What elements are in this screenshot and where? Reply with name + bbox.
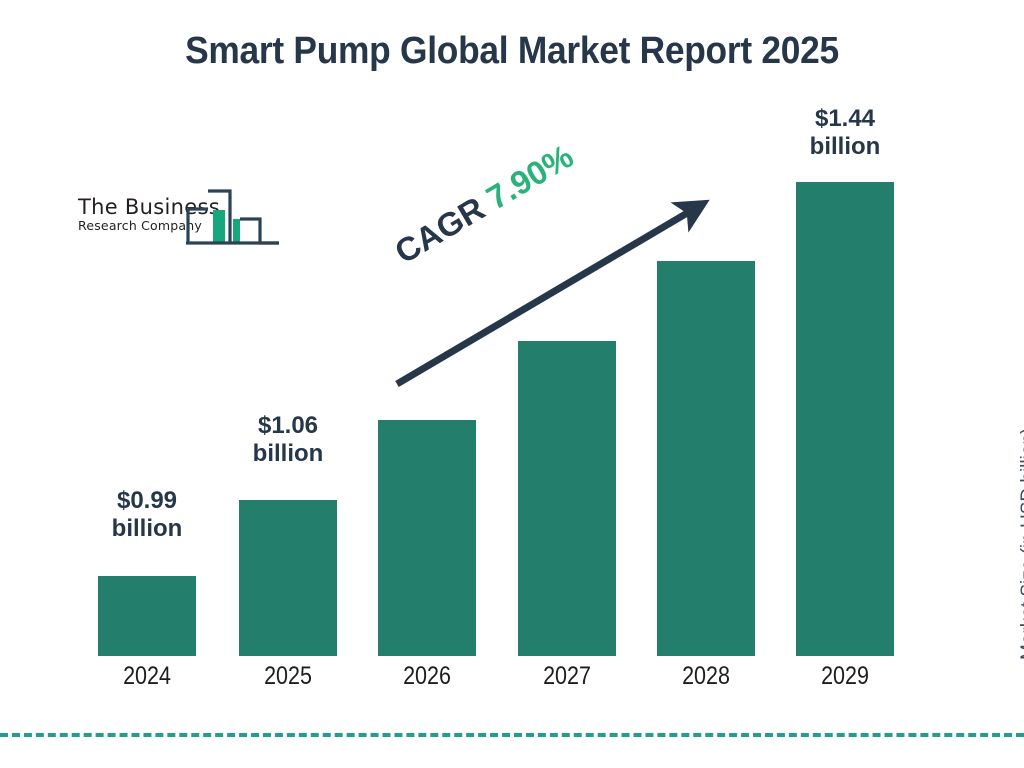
bar-value-2024-amount: $0.99 [79, 487, 215, 515]
cagr-value: 7.90% [480, 137, 579, 216]
x-tick-2026: 2026 [384, 662, 470, 691]
page-title: Smart Pump Global Market Report 2025 [36, 30, 988, 73]
bar-value-2025: $1.06 billion [220, 412, 356, 468]
bar-2027[interactable] [518, 341, 616, 656]
bar-2028[interactable] [657, 261, 755, 656]
x-tick-2025: 2025 [245, 662, 331, 691]
bar-2025[interactable] [239, 500, 337, 656]
cagr-annotation: CAGR 7.90% [388, 137, 580, 271]
logo-line-1: The Business [78, 196, 203, 218]
x-tick-2027: 2027 [524, 662, 610, 691]
bar-value-2029: $1.44 billion [777, 105, 913, 161]
x-tick-2028: 2028 [663, 662, 749, 691]
bar-value-2024-unit: billion [79, 515, 215, 543]
bar-2024[interactable] [98, 576, 196, 656]
bar-value-2029-unit: billion [777, 133, 913, 161]
logo-line-2: Research Company [78, 219, 203, 233]
bar-2026[interactable] [378, 420, 476, 656]
chart-canvas: Smart Pump Global Market Report 2025 The… [0, 0, 1024, 768]
x-tick-2024: 2024 [104, 662, 190, 691]
x-tick-2029: 2029 [802, 662, 888, 691]
company-logo: The Business Research Company [78, 186, 283, 256]
logo-text: The Business Research Company [78, 196, 203, 233]
logo-bar-chart-icon [186, 186, 281, 248]
bar-value-2024: $0.99 billion [79, 487, 215, 543]
bar-value-2025-unit: billion [220, 440, 356, 468]
bar-2029[interactable] [796, 182, 894, 656]
bar-value-2029-amount: $1.44 [777, 105, 913, 133]
cagr-label: CAGR [388, 189, 491, 270]
y-axis-title: Market Size (in USD billion) [1018, 330, 1024, 660]
bottom-divider [0, 733, 1024, 737]
bar-value-2025-amount: $1.06 [220, 412, 356, 440]
